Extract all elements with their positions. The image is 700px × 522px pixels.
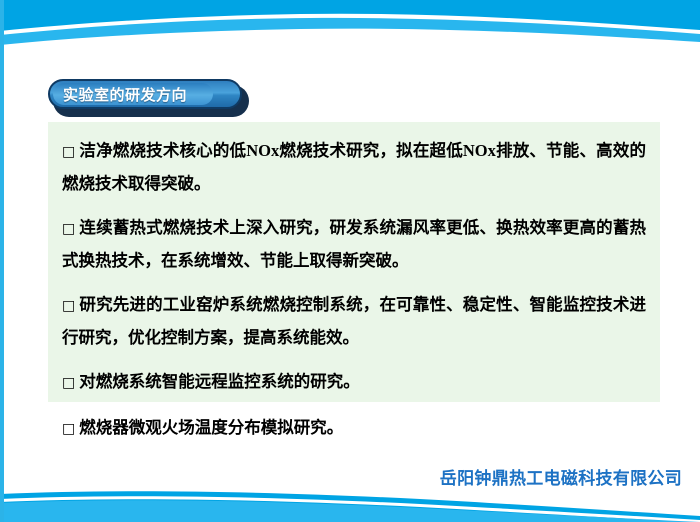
list-item: □对燃烧系统智能远程监控系统的研究。: [62, 366, 646, 399]
top-wave-band: [0, 0, 700, 46]
checkbox-bullet-icon: □: [62, 375, 79, 391]
list-item-text: 对燃烧系统智能远程监控系统的研究。: [79, 372, 360, 391]
left-accent-rail: [0, 0, 4, 522]
list-item: □洁净燃烧技术核心的低NOx燃烧技术研究，拟在超低NOx排放、节能、高效的燃烧技…: [62, 135, 646, 199]
checkbox-bullet-icon: □: [62, 144, 79, 160]
page-title: 实验室的研发方向: [50, 84, 187, 105]
list-item-text: 研究先进的工业窑炉系统燃烧控制系统，在可靠性、稳定性、智能监控技术进行研究，优化…: [62, 295, 646, 347]
checkbox-bullet-icon: □: [62, 421, 79, 437]
list-item: □燃烧器微观火场温度分布模拟研究。: [62, 412, 646, 445]
list-item: □连续蓄热式燃烧技术上深入研究，研发系统漏风率更低、换热效率更高的蓄热式换热技术…: [62, 212, 646, 276]
title-badge-pill: 实验室的研发方向: [48, 79, 242, 109]
list-item: □研究先进的工业窑炉系统燃烧控制系统，在可靠性、稳定性、智能监控技术进行研究，优…: [62, 289, 646, 353]
footer-company-name: 岳阳钟鼎热工电磁科技有限公司: [440, 464, 682, 489]
section-title-badge: 实验室的研发方向: [48, 79, 242, 109]
slide-canvas: 实验室的研发方向 □洁净燃烧技术核心的低NOx燃烧技术研究，拟在超低NOx排放、…: [0, 0, 700, 522]
content-panel: □洁净燃烧技术核心的低NOx燃烧技术研究，拟在超低NOx排放、节能、高效的燃烧技…: [48, 122, 660, 402]
checkbox-bullet-icon: □: [62, 298, 79, 314]
list-item-text: 洁净燃烧技术核心的低NOx燃烧技术研究，拟在超低NOx排放、节能、高效的燃烧技术…: [62, 141, 646, 193]
checkbox-bullet-icon: □: [62, 221, 79, 237]
list-item-text: 燃烧器微观火场温度分布模拟研究。: [79, 418, 343, 437]
list-item-text: 连续蓄热式燃烧技术上深入研究，研发系统漏风率更低、换热效率更高的蓄热式换热技术，…: [62, 218, 646, 270]
